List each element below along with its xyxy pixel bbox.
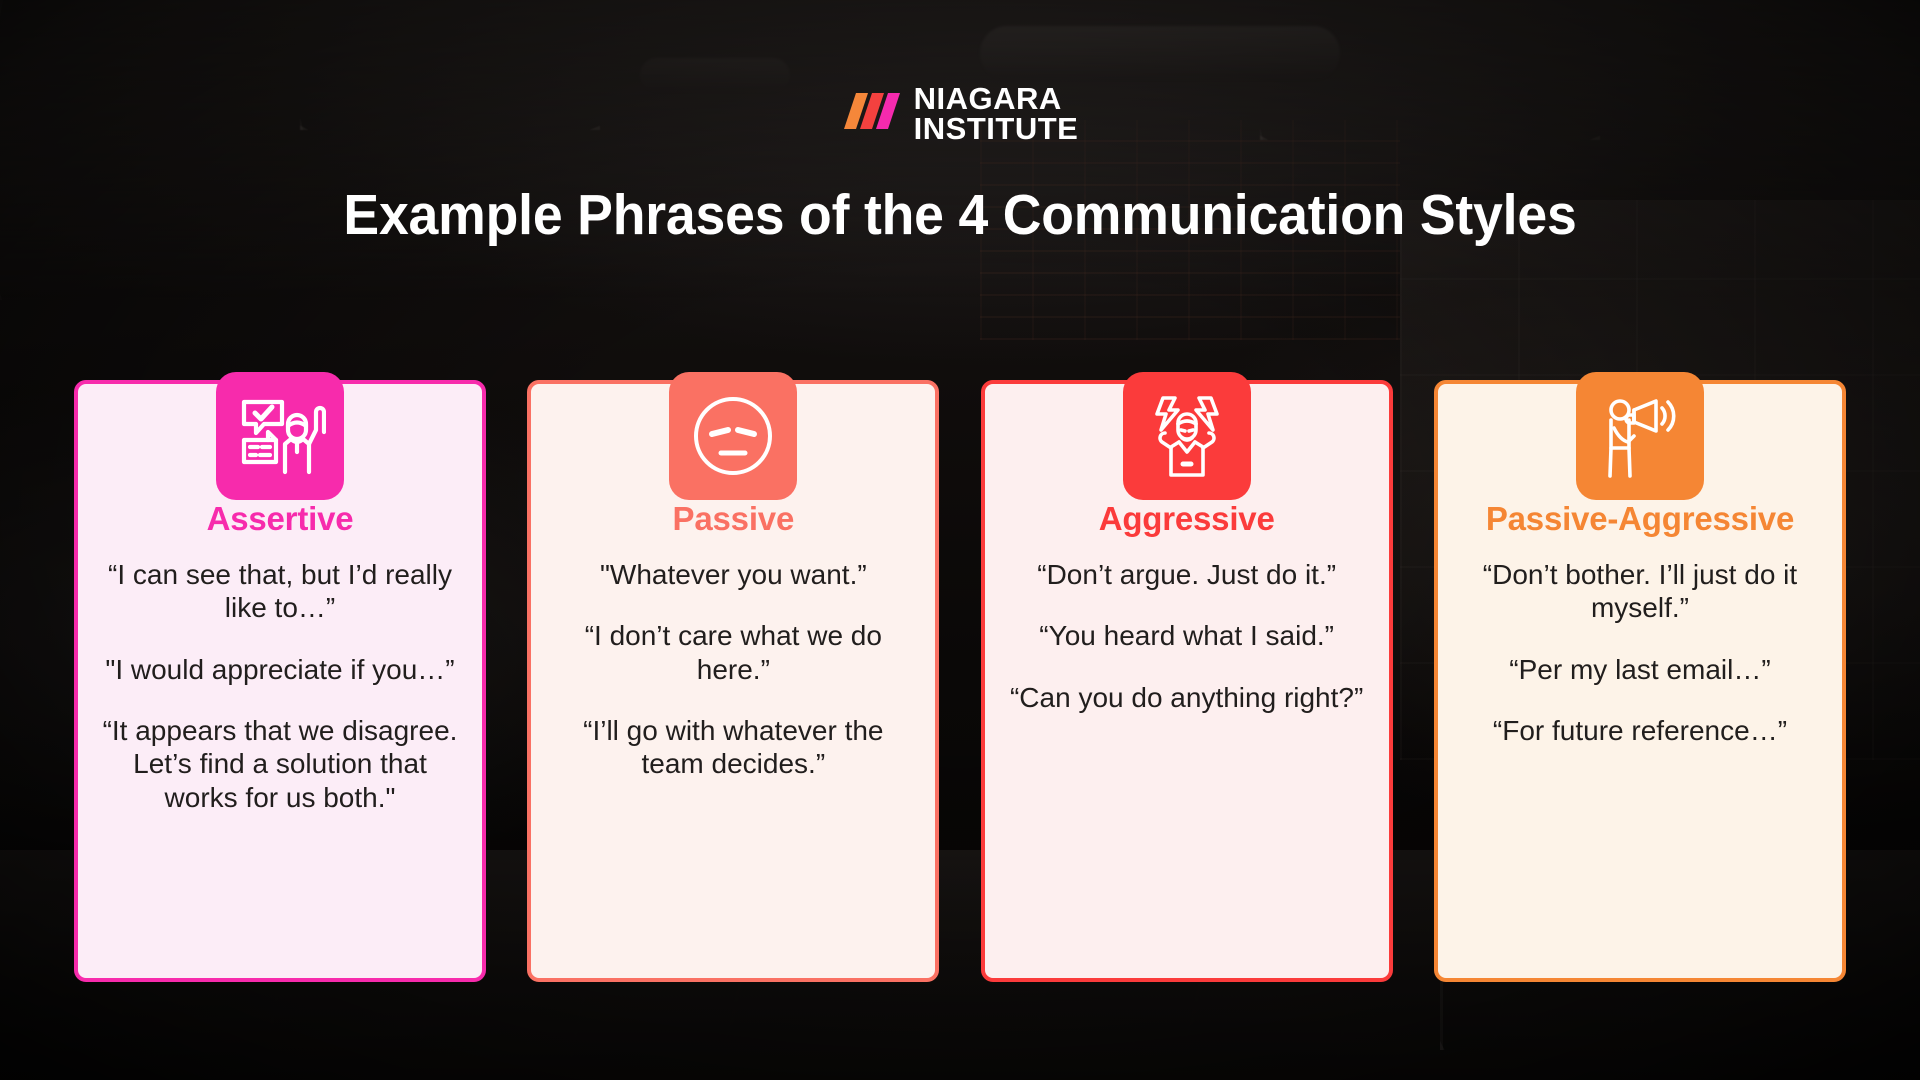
quote-passive-1: "Whatever you want.” [555,558,911,591]
quote-passive-3: “I’ll go with whatever the team decides.… [555,714,911,781]
brand-name-line2: INSTITUTE [914,114,1079,144]
brand-logo: NIAGARA INSTITUTE [0,84,1920,144]
card-title-passive-aggressive: Passive-Aggressive [1462,500,1818,538]
icon-badge-aggressive [1123,372,1251,500]
person-megaphone-icon [1594,390,1686,482]
icon-badge-assertive [216,372,344,500]
quote-passive-aggressive-3: “For future reference…” [1462,714,1818,747]
quote-assertive-2: "I would appreciate if you…” [102,653,458,686]
person-raising-hand-speech-bubble-check-icon [234,390,326,482]
page-title: Example Phrases of the 4 Communication S… [58,182,1863,248]
quote-passive-aggressive-1: “Don’t bother. I’ll just do it myself.” [1462,558,1818,625]
quote-assertive-3: “It appears that we disagree. Let’s find… [102,714,458,814]
quote-passive-2: “I don’t care what we do here.” [555,619,911,686]
unamused-face-icon [687,390,779,482]
quote-aggressive-2: “You heard what I said.” [1009,619,1365,652]
icon-badge-passive [669,372,797,500]
quote-passive-aggressive-2: “Per my last email…” [1462,653,1818,686]
niagara-slash-mark-icon [842,91,900,136]
brand-name-line1: NIAGARA [914,84,1079,114]
angry-person-lightning-icon [1141,390,1233,482]
card-passive: Passive "Whatever you want.” “I don’t ca… [527,372,939,982]
quote-assertive-1: “I can see that, but I’d really like to…… [102,558,458,625]
cards-row: Assertive “I can see that, but I’d reall… [74,372,1846,982]
card-passive-aggressive: Passive-Aggressive “Don’t bother. I’ll j… [1434,372,1846,982]
quote-aggressive-1: “Don’t argue. Just do it.” [1009,558,1365,591]
card-title-assertive: Assertive [102,500,458,538]
infographic-canvas: NIAGARA INSTITUTE Example Phrases of the… [0,0,1920,1080]
card-title-passive: Passive [555,500,911,538]
quote-aggressive-3: “Can you do anything right?” [1009,681,1365,714]
icon-badge-passive-aggressive [1576,372,1704,500]
card-title-aggressive: Aggressive [1009,500,1365,538]
card-assertive: Assertive “I can see that, but I’d reall… [74,372,486,982]
card-aggressive: Aggressive “Don’t argue. Just do it.” “Y… [981,372,1393,982]
